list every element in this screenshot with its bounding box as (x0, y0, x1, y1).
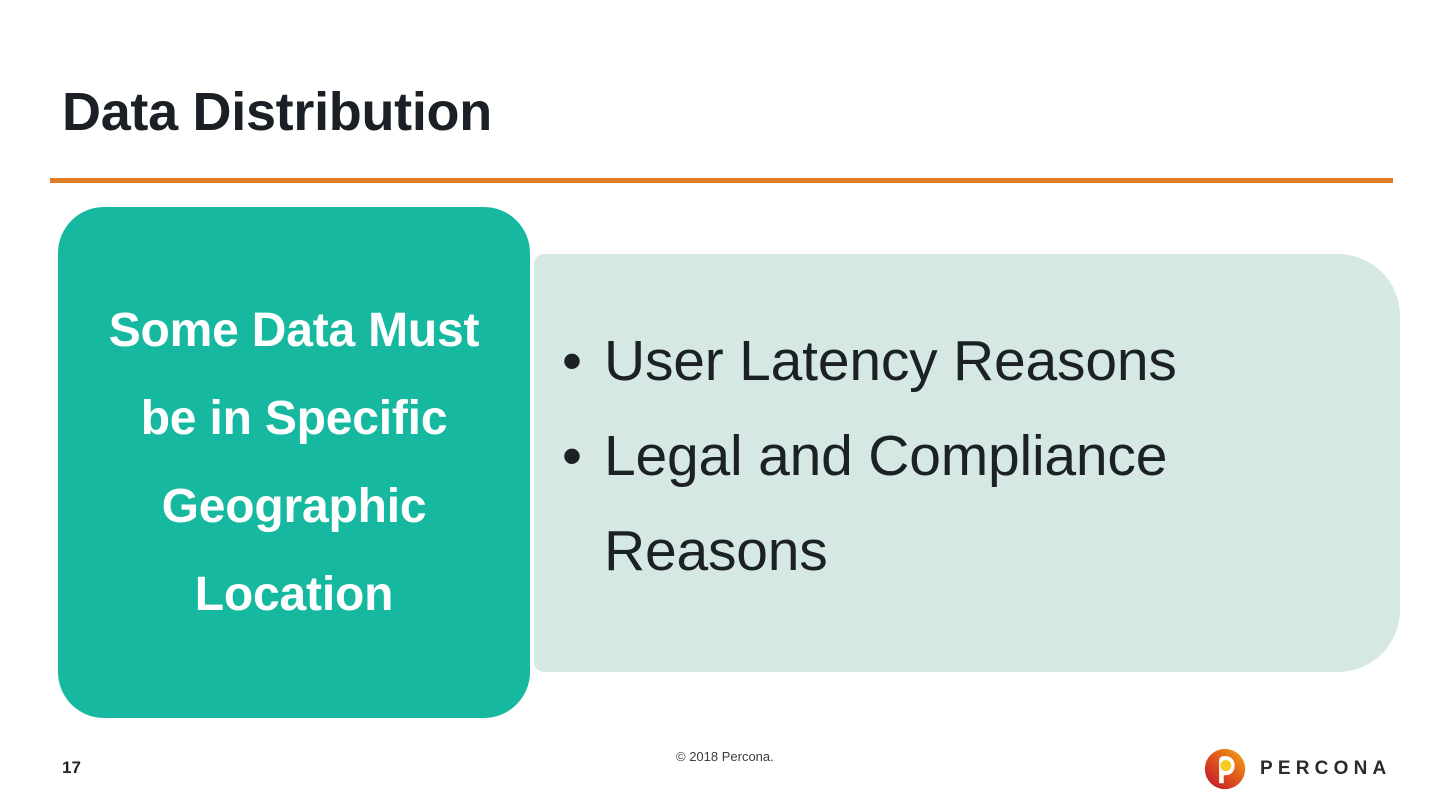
percona-wordmark: PERCONA (1260, 758, 1391, 780)
copyright-text: © 2018 Percona. (676, 749, 774, 764)
list-item: • Legal and Compliance Reasons (562, 409, 1364, 599)
list-item: • User Latency Reasons (562, 314, 1364, 409)
slide-canvas: Data Distribution • User Latency Reasons… (0, 0, 1440, 810)
page-number: 17 (62, 758, 81, 778)
percona-p-icon (1204, 748, 1246, 790)
callout-label: Some Data Must be in Specific Geographic… (84, 287, 504, 639)
bullet-icon: • (562, 409, 604, 504)
list-item-label: Legal and Compliance Reasons (604, 409, 1364, 599)
list-item-label: User Latency Reasons (604, 314, 1364, 409)
page-title: Data Distribution (62, 84, 492, 141)
bullet-list: • User Latency Reasons • Legal and Compl… (562, 314, 1364, 599)
content-panel: • User Latency Reasons • Legal and Compl… (534, 254, 1400, 672)
callout-box: Some Data Must be in Specific Geographic… (58, 207, 530, 718)
title-divider (50, 178, 1393, 183)
bullet-icon: • (562, 314, 604, 409)
percona-logo: PERCONA (1204, 748, 1391, 790)
